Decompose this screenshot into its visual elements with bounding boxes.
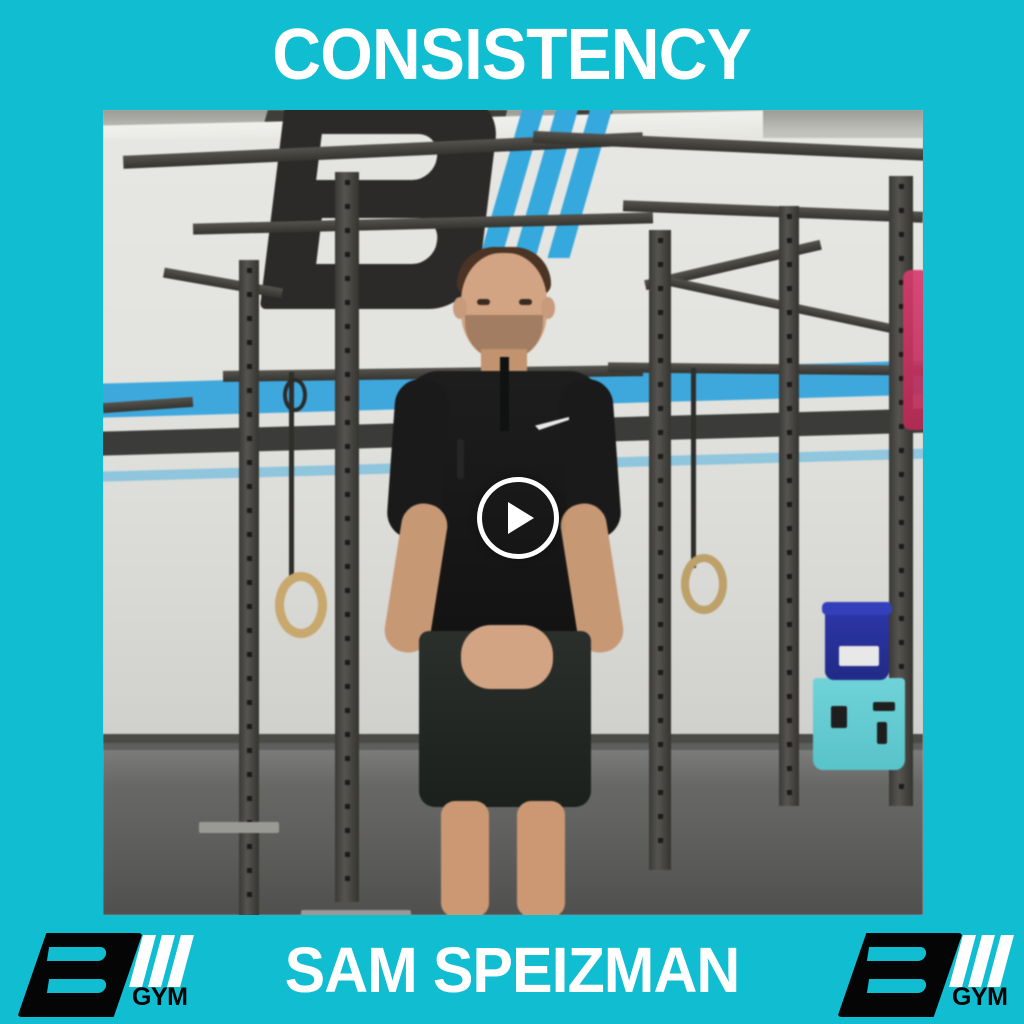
plyo-box — [813, 678, 905, 770]
rack-upright — [779, 206, 799, 806]
footer-bar: GYM SAM SPEIZMAN GYM — [0, 915, 1024, 1024]
blue-bucket — [825, 608, 889, 680]
video-subject — [385, 253, 623, 915]
play-triangle-icon — [508, 502, 534, 534]
page-title: CONSISTENCY — [273, 19, 752, 91]
brand-logo-right[interactable]: GYM — [838, 929, 1014, 1021]
ring-clip — [283, 378, 307, 412]
rack-upright — [239, 260, 259, 915]
rack-foot — [199, 822, 279, 833]
brand-wordmark-right: GYM — [952, 985, 1007, 1010]
page-root: CONSISTENCY — [0, 0, 1024, 1024]
b-mark-icon — [837, 933, 962, 1017]
video-player[interactable] — [103, 110, 923, 915]
red-equipment — [903, 270, 923, 430]
rack-upright — [335, 172, 359, 902]
play-button[interactable] — [477, 477, 559, 559]
rack-upright — [649, 230, 671, 870]
gymnastic-ring — [681, 554, 727, 614]
title-bar: CONSISTENCY — [0, 0, 1024, 110]
ring-strap — [691, 368, 696, 568]
gymnastic-ring — [275, 572, 327, 638]
